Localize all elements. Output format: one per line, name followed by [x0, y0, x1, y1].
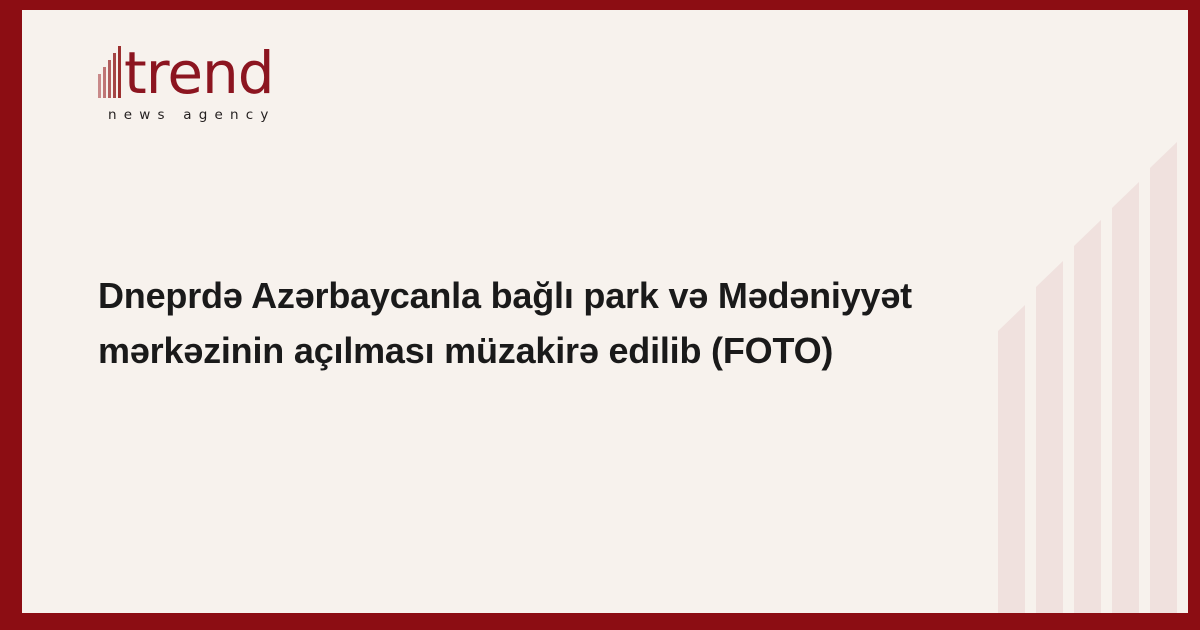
decorative-bars-watermark	[998, 163, 1178, 613]
logo-mark: trend	[98, 42, 328, 98]
logo-bar	[98, 74, 101, 98]
logo-bar	[113, 53, 116, 98]
logo-bar	[108, 60, 111, 98]
watermark-bar	[1150, 168, 1177, 613]
card-canvas: trend news agency Dneprdə Azərbaycanla b…	[22, 10, 1188, 613]
share-card: trend news agency Dneprdə Azərbaycanla b…	[0, 0, 1200, 630]
watermark-bar	[998, 331, 1025, 613]
logo-bar	[118, 46, 121, 98]
trend-logo[interactable]: trend news agency	[98, 42, 328, 123]
logo-tagline: news agency	[108, 107, 328, 123]
watermark-bar	[1036, 287, 1063, 613]
logo-bar	[103, 67, 106, 98]
watermark-bar	[1112, 208, 1139, 613]
ascending-bars-icon	[98, 42, 121, 98]
watermark-bar	[1074, 246, 1101, 613]
article-headline: Dneprdə Azərbaycanla bağlı park və Mədən…	[98, 268, 998, 378]
logo-wordmark: trend	[124, 45, 274, 101]
